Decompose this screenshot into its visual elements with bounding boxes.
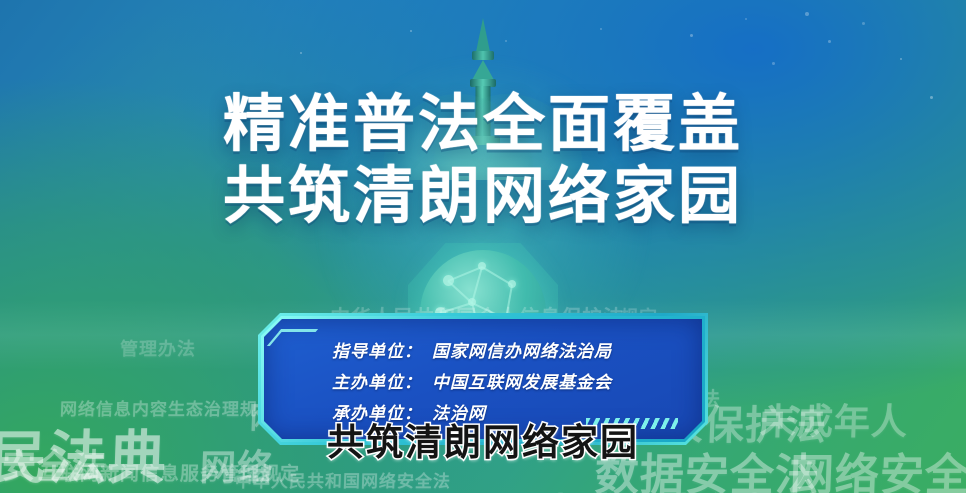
panel-corner-tick	[267, 329, 318, 346]
keyword-text: 互联网新闻信息服务管理规定	[40, 459, 301, 486]
sparkle-dot	[930, 96, 933, 99]
keyword-text: 网络安全	[789, 439, 966, 493]
headline-line-1: 精准普法全面覆盖	[0, 88, 966, 160]
emblem-link	[447, 280, 472, 303]
organizer-info-panel: 指导单位：国家网信办网络法治局 主办单位：中国互联网发展基金会 承办单位：法治网	[258, 313, 708, 445]
sparkle-dot	[862, 22, 865, 25]
organizer-rows: 指导单位：国家网信办网络法治局 主办单位：中国互联网发展基金会 承办单位：法治网	[332, 337, 688, 430]
emblem-link	[471, 267, 483, 304]
monument-dome-right	[383, 94, 533, 180]
keyword-text: 民法典	[0, 411, 168, 493]
sparkle-dot	[828, 40, 831, 43]
poster-canvas: 民法典安全法网络信息内容生态治理规定互联网新闻信息服务管理规定办法网络生态网络中…	[0, 0, 966, 493]
organizer-label: 承办单位：	[332, 404, 422, 424]
organizer-label: 主办单位：	[332, 373, 422, 393]
emblem-node	[508, 280, 516, 288]
keyword-text: 管理办法	[120, 335, 197, 361]
keyword-text: 未成年人保护法	[539, 481, 828, 493]
organizer-row: 承办单位：法治网	[332, 399, 688, 430]
sparkle-dot	[745, 18, 747, 20]
monument-spire-icon	[470, 18, 496, 138]
keyword-text: 网络信息内容生态治理规定	[60, 395, 277, 420]
organizer-value: 中国互联网发展基金会	[432, 373, 612, 393]
organizer-row: 指导单位：国家网信办网络法治局	[332, 337, 688, 368]
keyword-text: 网络	[199, 439, 275, 491]
emblem-link	[481, 266, 512, 286]
sparkle-dot	[690, 34, 693, 37]
keyword-text: 中华人民共和国网络安全法	[235, 467, 452, 492]
sparkle-dot	[900, 58, 902, 60]
emblem-node	[478, 262, 486, 270]
organizer-row: 主办单位：中国互联网发展基金会	[332, 368, 688, 399]
sparkle-dot	[805, 12, 809, 16]
sparkle-dot	[772, 62, 775, 65]
organizer-value: 法治网	[432, 404, 486, 424]
keyword-text: 办法	[9, 481, 105, 493]
page-title: 精准普法全面覆盖 共筑清朗网络家园	[0, 88, 966, 232]
monument-dome-left	[433, 94, 583, 180]
sparkle-dot	[600, 28, 602, 30]
headline-line-2: 共筑清朗网络家园	[0, 160, 966, 232]
sparkle-dot	[300, 52, 302, 54]
emblem-link	[448, 266, 483, 282]
emblem-node	[468, 298, 476, 306]
organizer-value: 国家网信办网络法治局	[432, 342, 612, 362]
keyword-text: 未成年人	[759, 393, 909, 445]
organizer-label: 指导单位：	[332, 342, 422, 362]
sparkle-dot	[410, 30, 412, 32]
keyword-text: 安全法	[1, 439, 108, 488]
sparkle-dot	[505, 40, 507, 42]
keyword-text: 数据安全法	[594, 439, 821, 493]
emblem-node	[443, 275, 454, 286]
